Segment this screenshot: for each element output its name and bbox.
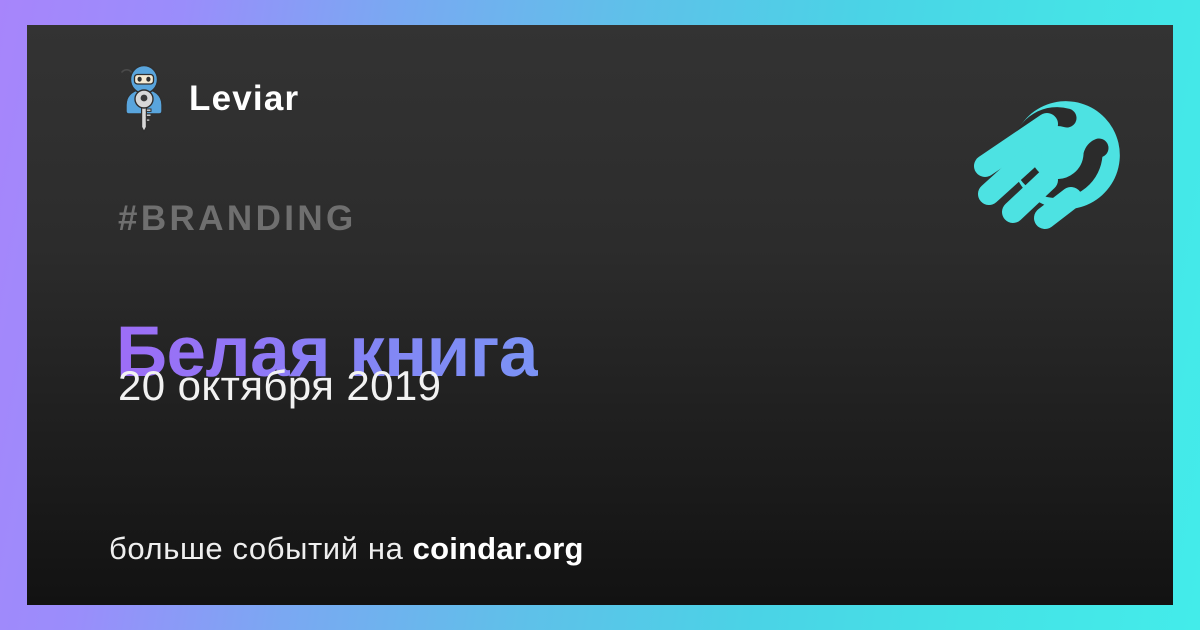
footer-cta: больше событий на coindar.org (109, 533, 584, 564)
footer-prefix: больше событий на (109, 531, 413, 566)
brand-name: Leviar (189, 81, 299, 116)
leviar-ninja-key-logo-icon (118, 63, 170, 133)
coindar-site-link[interactable]: coindar.org (413, 531, 584, 566)
brand-row: Leviar (118, 63, 299, 133)
category-tag: #BRANDING (118, 201, 357, 236)
coindar-comet-icon (959, 60, 1135, 236)
event-date: 20 октября 2019 (118, 365, 441, 407)
event-card: Leviar #BRANDING (27, 25, 1173, 605)
gradient-frame: Leviar #BRANDING (0, 0, 1200, 630)
